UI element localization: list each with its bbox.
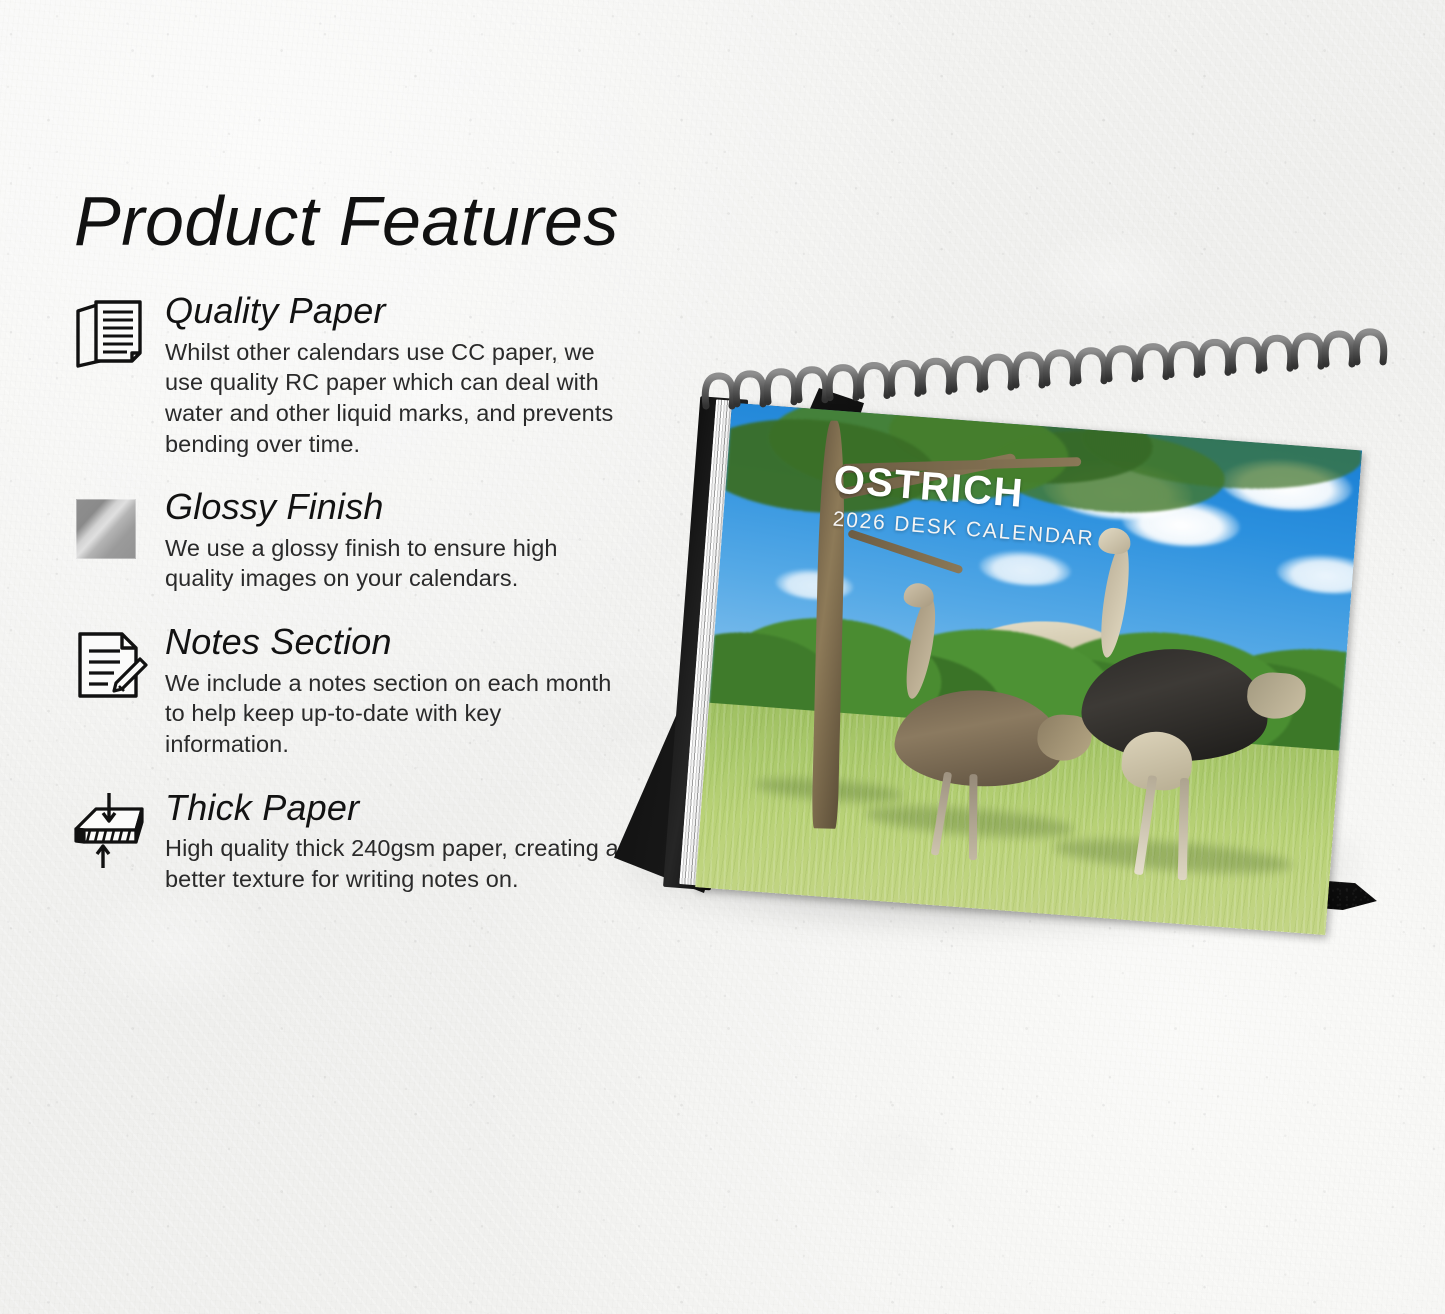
feature-title: Thick Paper	[165, 789, 630, 828]
feature-list: Quality Paper Whilst other calendars use…	[70, 292, 630, 924]
note-pencil-icon	[70, 626, 152, 704]
feature-body: Whilst other calendars use CC paper, we …	[165, 337, 630, 459]
feature-body: High quality thick 240gsm paper, creatin…	[165, 833, 630, 894]
thick-paper-slab-icon	[70, 792, 152, 870]
feature-item-quality-paper: Quality Paper Whilst other calendars use…	[70, 292, 630, 459]
feature-title: Notes Section	[165, 623, 630, 662]
spiral-wire-binding	[696, 344, 1396, 430]
glossy-swatch-icon	[70, 491, 152, 569]
calendar-cover: OSTRICH 2026 DESK CALENDAR	[695, 403, 1362, 936]
product-mockup-desk-calendar: OSTRICH 2026 DESK CALENDAR	[600, 330, 1400, 970]
feature-title: Quality Paper	[165, 292, 630, 331]
calendar-front-block: OSTRICH 2026 DESK CALENDAR	[673, 373, 1390, 943]
stacked-paper-icon	[70, 295, 152, 373]
feature-title: Glossy Finish	[165, 488, 630, 527]
cover-photograph: OSTRICH 2026 DESK CALENDAR	[695, 403, 1362, 936]
product-features-infographic: Product Features	[0, 0, 1445, 1314]
feature-item-notes-section: Notes Section We include a notes section…	[70, 623, 630, 760]
feature-body: We include a notes section on each month…	[165, 668, 630, 760]
feature-body: We use a glossy finish to ensure high qu…	[165, 533, 630, 594]
feature-item-thick-paper: Thick Paper High quality thick 240gsm pa…	[70, 789, 630, 895]
feature-item-glossy-finish: Glossy Finish We use a glossy finish to …	[70, 488, 630, 594]
page-title: Product Features	[74, 181, 619, 261]
